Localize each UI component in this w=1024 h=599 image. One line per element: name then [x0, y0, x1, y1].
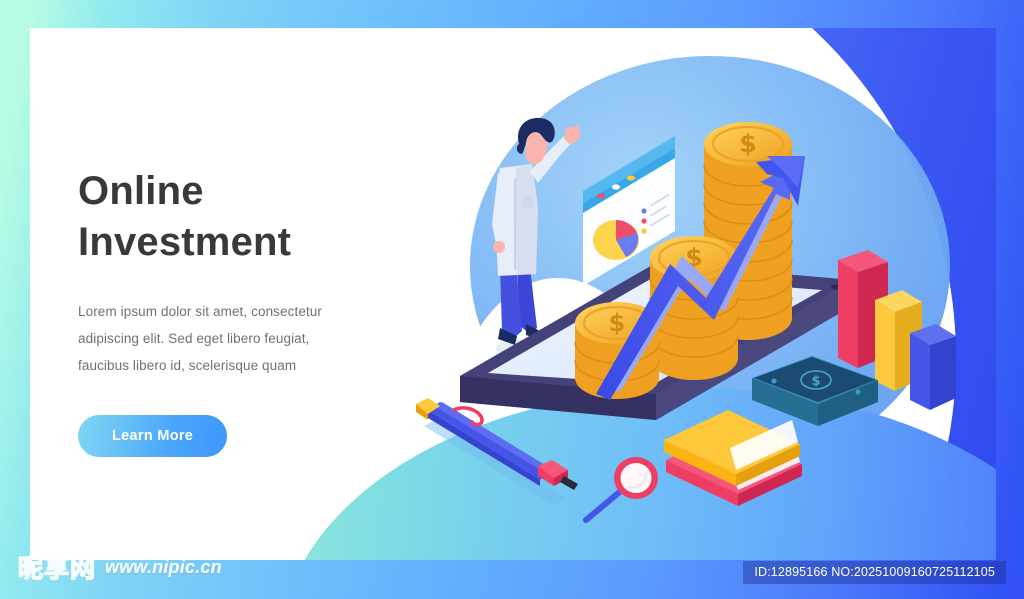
subtext-line-1: Lorem ipsum dolor sit amet, consectetur [78, 298, 408, 325]
headline-line-1: Online [78, 166, 408, 217]
subtext-line-2: adipiscing elit. Sed eget libero feugiat… [78, 325, 408, 352]
content-card: Online Investment Lorem ipsum dolor sit … [30, 28, 996, 560]
learn-more-button[interactable]: Learn More [78, 415, 227, 457]
poster-canvas: Online Investment Lorem ipsum dolor sit … [0, 0, 1024, 599]
watermark-url: www.nipic.cn [105, 557, 222, 578]
watermark-cn-text: 昵享网 [18, 549, 96, 585]
subtext-line-3: faucibus libero id, scelerisque quam [78, 352, 408, 379]
headline-line-2: Investment [78, 217, 408, 268]
hero-copy-block: Online Investment Lorem ipsum dolor sit … [78, 166, 408, 457]
page-title: Online Investment [78, 166, 408, 268]
image-id-badge: ID:12895166 NO:20251009160725112105 [743, 561, 1006, 584]
watermark: 昵享网 www.nipic.cn [18, 549, 222, 585]
hero-subtext: Lorem ipsum dolor sit amet, consectetur … [78, 298, 408, 379]
